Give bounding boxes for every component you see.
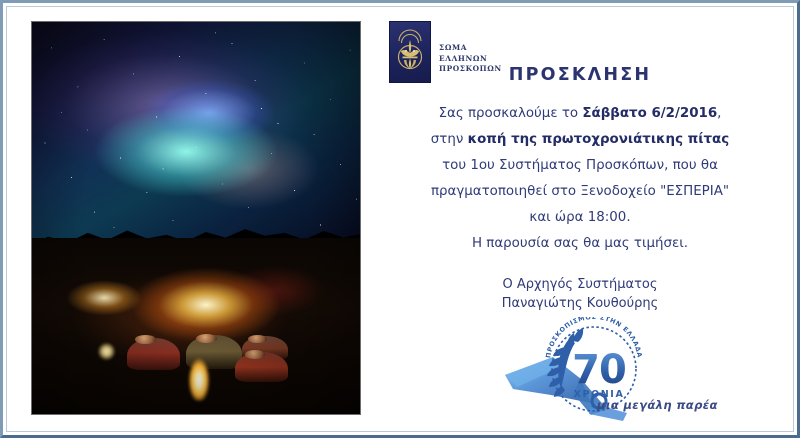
signature-name: Παναγιώτης Κουθούρης [375, 294, 785, 313]
invitation-line-2: στην κοπή της πρωτοχρονιάτικης πίτας [375, 127, 785, 153]
logo-line-1: ΣΩΜΑ [439, 43, 502, 54]
invitation-line-6: Η παρουσία σας θα μας τιμήσει. [375, 231, 785, 257]
invitation-content: ΣΩΜΑ ΕΛΛΗΝΩΝ ΠΡΟΣΚΟΠΩΝ ΠΡΟΣΚΛΗΣΗ Σας προ… [375, 17, 785, 427]
photo-vignette [32, 22, 360, 414]
invitation-line-3: του 1ου Συστήματος Προσκόπων, που θα [375, 153, 785, 179]
invitation-line-5: και ώρα 18:00. [375, 205, 785, 231]
event-name-bold: κοπή της πρωτοχρονιάτικης πίτας [468, 132, 730, 147]
campfire-night-sky-photo [31, 21, 361, 415]
line2-prefix: στην [431, 132, 468, 147]
event-date-bold: Σάββατο 6/2/2016 [582, 106, 717, 121]
signature-role: Ο Αρχηγός Συστήματος [375, 275, 785, 294]
line1-suffix: , [717, 106, 721, 121]
page-title: ΠΡΟΣΚΛΗΣΗ [375, 65, 785, 85]
invitation-card: ΣΩΜΑ ΕΛΛΗΝΩΝ ΠΡΟΣΚΟΠΩΝ ΠΡΟΣΚΛΗΣΗ Σας προ… [0, 0, 800, 438]
invitation-body: Σας προσκαλούμε το Σάββατο 6/2/2016, στη… [375, 101, 785, 257]
logo-line-2: ΕΛΛΗΝΩΝ [439, 54, 502, 65]
signature-block: Ο Αρχηγός Συστήματος Παναγιώτης Κουθούρη… [375, 275, 785, 313]
invitation-line-1: Σας προσκαλούμε το Σάββατο 6/2/2016, [375, 101, 785, 127]
anniversary-number: 70 [572, 347, 626, 393]
emblem-tagline: μια μεγάλη παρέα [597, 398, 718, 412]
line1-prefix: Σας προσκαλούμε το [439, 106, 583, 121]
invitation-line-4: πραγματοποιηθεί στο Ξενοδοχείο "ΕΣΠΕΡΙΑ" [375, 179, 785, 205]
